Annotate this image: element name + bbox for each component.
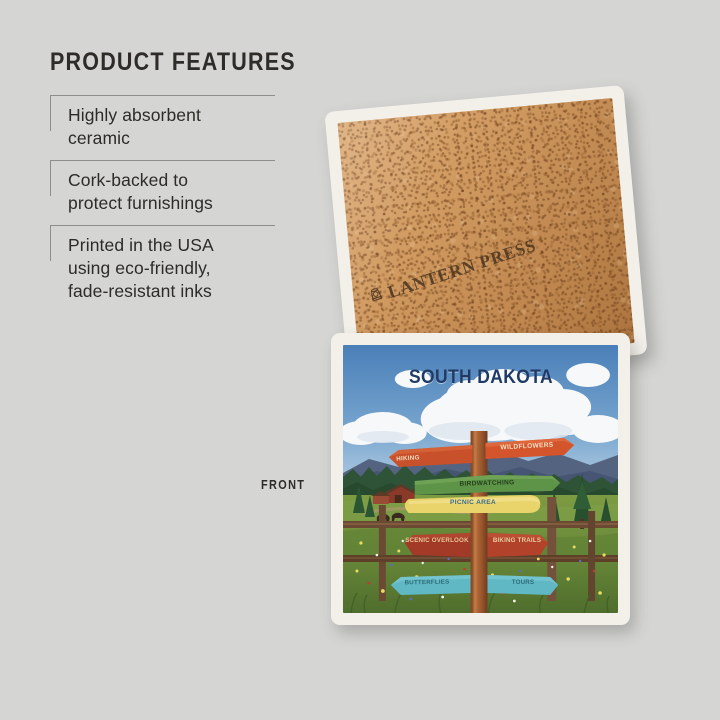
product-feature-layout: PRODUCT FEATURES Highly absorbent cerami…	[0, 0, 720, 720]
sign-label-biking-trails: BIKING TRAILS	[489, 537, 545, 546]
coaster-front[interactable]: SOUTH DAKOTA HIKING WILDFLOWERS BIRDWATC…	[331, 333, 630, 625]
artwork-title: SOUTH DAKOTA	[409, 367, 553, 389]
product-features-panel: PRODUCT FEATURES Highly absorbent cerami…	[50, 48, 335, 313]
page-title: PRODUCT FEATURES	[50, 48, 295, 77]
feature-item: Highly absorbent ceramic	[50, 95, 335, 160]
feature-divider	[50, 225, 275, 226]
feature-text: Printed in the USA using eco-friendly, f…	[68, 234, 335, 303]
front-label: FRONT	[261, 477, 305, 492]
feature-item: Cork-backed to protect furnishings	[50, 160, 335, 225]
cork-surface: LANTERN PRESS	[337, 98, 634, 368]
feature-text: Highly absorbent ceramic	[68, 104, 335, 150]
feature-tick	[50, 225, 51, 261]
sign-label-picnic-area: PICNIC AREA	[425, 499, 521, 506]
feature-tick	[50, 160, 51, 196]
feature-divider	[50, 95, 275, 96]
sign-label-scenic-overlook: SCENIC OVERLOOK	[405, 537, 469, 546]
feature-item: Printed in the USA using eco-friendly, f…	[50, 225, 335, 313]
feature-divider	[50, 160, 275, 161]
sign-label-tours: TOURS	[495, 579, 551, 586]
feature-tick	[50, 95, 51, 131]
sign-label-butterflies: BUTTERFLIES	[387, 578, 467, 586]
cork-shading	[337, 98, 634, 368]
feature-text: Cork-backed to protect furnishings	[68, 169, 335, 215]
artwork-surface: SOUTH DAKOTA HIKING WILDFLOWERS BIRDWATC…	[343, 345, 618, 613]
